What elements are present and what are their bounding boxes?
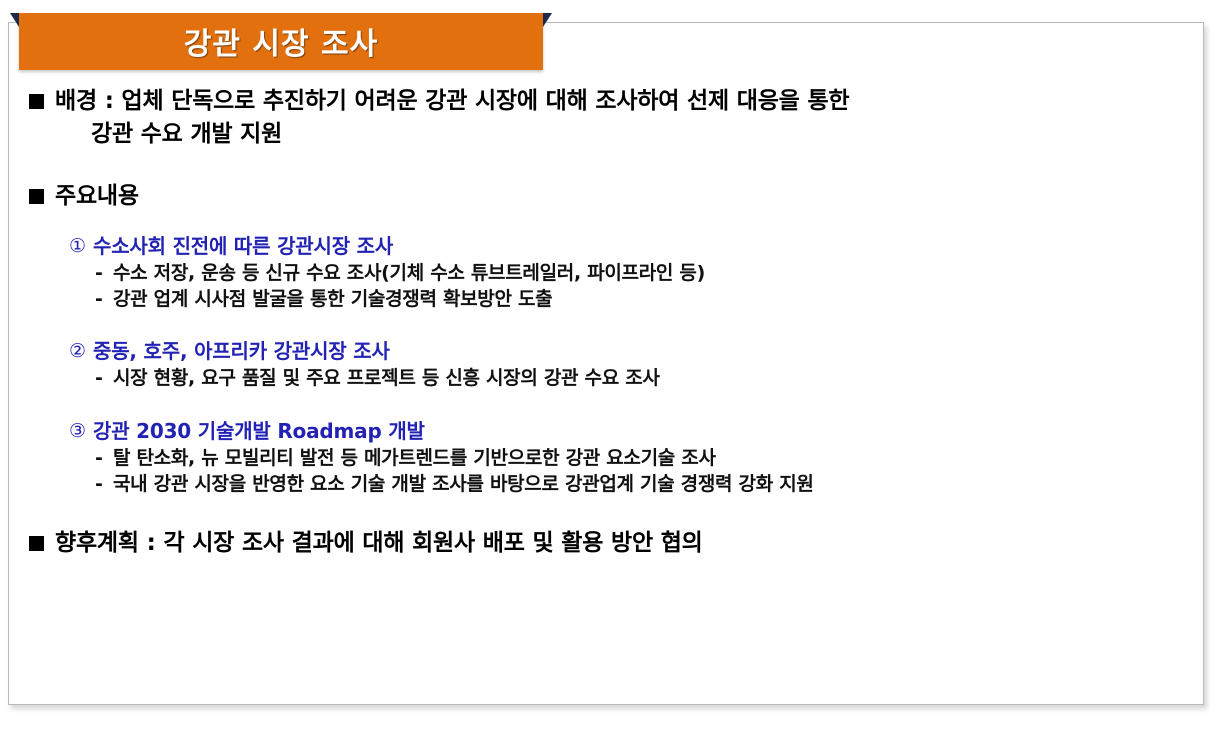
square-bullet-icon [29,94,44,109]
slide-title-banner: 강관 시장 조사 [19,13,543,70]
future-plan-heading: 향후계획 : 각 시장 조사 결과에 대해 회원사 배포 및 활용 방안 협의 [27,527,1189,560]
item-3-title: 강관 2030 기술개발 Roadmap 개발 [93,419,425,443]
spacer [27,150,1189,180]
circled-number-3-icon: ③ [69,419,86,445]
dash-bullet-icon: - [95,365,103,391]
spacer [27,497,1189,527]
banner-corner-notch-right-icon [543,13,552,27]
main-content-item-3: ③ 강관 2030 기술개발 Roadmap 개발 - 탈 탄소화, 뉴 모빌리… [27,418,1189,497]
slide-body: 배경 : 업체 단독으로 추진하기 어려운 강관 시장에 대해 조사하여 선제 … [9,85,1203,704]
dash-bullet-icon: - [95,286,103,312]
main-contents-heading-label: 주요내용 [55,183,139,209]
section-background: 배경 : 업체 단독으로 추진하기 어려운 강관 시장에 대해 조사하여 선제 … [27,85,1189,150]
item-2-title-row: ② 중동, 호주, 아프리카 강관시장 조사 [27,338,1189,365]
item-1-detail-1-text: 수소 저장, 운송 등 신규 수요 조사(기체 수소 튜브트레일러, 파이프라인… [113,262,705,284]
dash-bullet-icon: - [95,260,103,286]
background-line-1: 배경 : 업체 단독으로 추진하기 어려운 강관 시장에 대해 조사하여 선제 … [55,88,849,114]
item-3-title-row: ③ 강관 2030 기술개발 Roadmap 개발 [27,418,1189,445]
item-1-title-row: ① 수소사회 진전에 따른 강관시장 조사 [27,233,1189,260]
item-1-detail-2-text: 강관 업계 시사점 발굴을 통한 기술경쟁력 확보방안 도출 [113,288,552,310]
item-3-detail-1-text: 탈 탄소화, 뉴 모빌리티 발전 등 메가트렌드를 기반으로한 강관 요소기술 … [113,447,716,469]
spacer [27,213,1189,233]
item-1-title: 수소사회 진전에 따른 강관시장 조사 [93,234,393,258]
section-future-plan: 향후계획 : 각 시장 조사 결과에 대해 회원사 배포 및 활용 방안 협의 [27,527,1189,560]
section-main-contents: 주요내용 ① 수소사회 진전에 따른 강관시장 조사 - 수소 저장, 운송 등… [27,180,1189,497]
item-3-detail-1: - 탈 탄소화, 뉴 모빌리티 발전 등 메가트렌드를 기반으로한 강관 요소기… [27,445,1189,471]
background-heading: 배경 : 업체 단독으로 추진하기 어려운 강관 시장에 대해 조사하여 선제 … [27,85,1189,150]
square-bullet-icon [29,536,44,551]
dash-bullet-icon: - [95,471,103,497]
item-1-detail-2: - 강관 업계 시사점 발굴을 통한 기술경쟁력 확보방안 도출 [27,286,1189,312]
item-2-detail-1: - 시장 현황, 요구 품질 및 주요 프로젝트 등 신흥 시장의 강관 수요 … [27,365,1189,391]
main-content-item-1: ① 수소사회 진전에 따른 강관시장 조사 - 수소 저장, 운송 등 신규 수… [27,233,1189,312]
future-plan-text: 향후계획 : 각 시장 조사 결과에 대해 회원사 배포 및 활용 방안 협의 [55,530,703,556]
item-1-detail-1: - 수소 저장, 운송 등 신규 수요 조사(기체 수소 튜브트레일러, 파이프… [27,260,1189,286]
banner-corner-notch-left-icon [10,13,19,27]
slide-title: 강관 시장 조사 [19,19,543,63]
slide-frame: 강관 시장 조사 배경 : 업체 단독으로 추진하기 어려운 강관 시장에 대해… [8,22,1204,705]
circled-number-2-icon: ② [69,339,86,365]
item-2-title: 중동, 호주, 아프리카 강관시장 조사 [93,339,390,363]
main-contents-heading: 주요내용 [27,180,1189,213]
background-line-2: 강관 수요 개발 지원 [55,118,1189,151]
item-3-detail-2-text: 국내 강관 시장을 반영한 요소 기술 개발 조사를 바탕으로 강관업계 기술 … [113,473,814,495]
spacer [27,392,1189,418]
circled-number-1-icon: ① [69,234,86,260]
spacer [27,312,1189,338]
dash-bullet-icon: - [95,445,103,471]
main-content-item-2: ② 중동, 호주, 아프리카 강관시장 조사 - 시장 현황, 요구 품질 및 … [27,338,1189,391]
item-2-detail-1-text: 시장 현황, 요구 품질 및 주요 프로젝트 등 신흥 시장의 강관 수요 조사 [113,367,660,389]
item-3-detail-2: - 국내 강관 시장을 반영한 요소 기술 개발 조사를 바탕으로 강관업계 기… [27,471,1189,497]
square-bullet-icon [29,189,44,204]
